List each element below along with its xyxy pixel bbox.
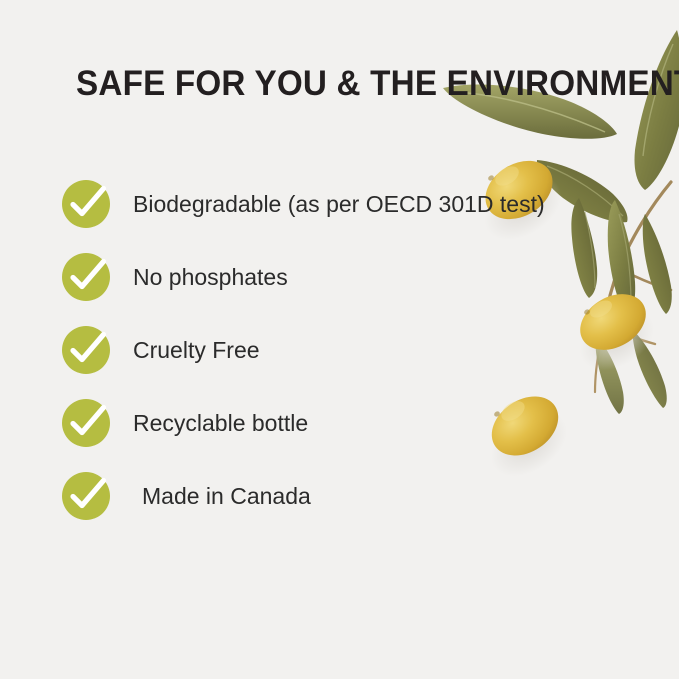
benefit-label: Biodegradable (as per OECD 301D test) (133, 190, 545, 218)
benefit-list: Biodegradable (as per OECD 301D test) No… (62, 180, 662, 520)
benefit-label: Recyclable bottle (133, 409, 308, 437)
list-item: Biodegradable (as per OECD 301D test) (62, 180, 662, 228)
list-item: No phosphates (62, 253, 662, 301)
check-circle-icon (62, 399, 110, 447)
list-item: Cruelty Free (62, 326, 662, 374)
benefit-label: Cruelty Free (133, 336, 260, 364)
page-title: SAFE FOR YOU & THE ENVIRONMENT (76, 62, 679, 106)
list-item: Made in Canada (62, 472, 662, 520)
safe-for-you-infographic: SAFE FOR YOU & THE ENVIRONMENT Biodegrad… (0, 0, 679, 679)
check-circle-icon (62, 326, 110, 374)
benefit-label: No phosphates (133, 263, 288, 291)
benefit-label: Made in Canada (142, 482, 311, 510)
olive-leaf-upper-right (634, 30, 679, 190)
check-circle-icon (62, 472, 110, 520)
check-circle-icon (62, 253, 110, 301)
check-circle-icon (62, 180, 110, 228)
list-item: Recyclable bottle (62, 399, 662, 447)
